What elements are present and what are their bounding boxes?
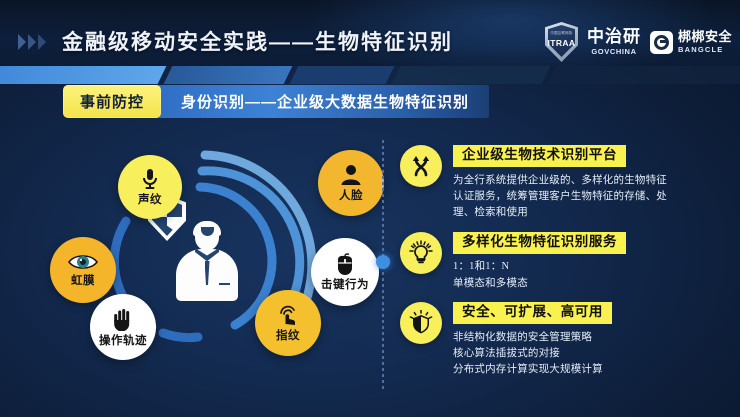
section-title: 安全、可扩展、高可用 bbox=[453, 302, 612, 324]
node-fingerprint[interactable]: 指纹 bbox=[255, 290, 321, 356]
bangcle-logo: 梆梆安全 BANGCLE bbox=[650, 30, 732, 54]
section-description: 1：1和1：N 单模态和多模态 bbox=[453, 259, 736, 292]
double-chevron-right-icon bbox=[18, 34, 64, 50]
biometrics-diagram: 声纹 人脸 虹膜 bbox=[30, 135, 380, 395]
divider-dot bbox=[376, 255, 390, 269]
govchina-logo-cn: 中治研 bbox=[587, 29, 641, 46]
mouse-icon bbox=[335, 253, 355, 275]
subtitle-tag: 事前防控 bbox=[63, 85, 161, 118]
crossing-arrows-icon bbox=[400, 145, 442, 187]
govchina-logo: 中治研 GOVCHINA bbox=[587, 29, 641, 56]
bangcle-logo-en: BANGCLE bbox=[678, 46, 732, 54]
node-voiceprint[interactable]: 声纹 bbox=[118, 155, 182, 219]
section-platform: 企业级生物技术识别平台 为全行系统提供企业级的、多样化的生物特征 认证服务，统筹… bbox=[400, 145, 736, 221]
section-description: 为全行系统提供企业级的、多样化的生物特征 认证服务，统筹管理客户生物特征的存储、… bbox=[453, 172, 736, 221]
fingerprint-touch-icon bbox=[277, 304, 299, 326]
microphone-icon bbox=[141, 168, 159, 190]
header-stripe-decoration bbox=[0, 66, 740, 84]
node-label: 操作轨迹 bbox=[99, 332, 147, 348]
section-description: 非结构化数据的安全管理策略 核心算法插拔式的对接 分布式内存计算实现大规模计算 bbox=[453, 329, 736, 378]
node-keystroke[interactable]: 击键行为 bbox=[311, 238, 379, 306]
itraa-logo-text: ITRAA bbox=[545, 38, 578, 48]
section-title: 企业级生物技术识别平台 bbox=[453, 145, 626, 167]
section-services: 多样化生物特征识别服务 1：1和1：N 单模态和多模态 bbox=[400, 232, 736, 291]
page-title: 金融级移动安全实践——生物特征识别 bbox=[62, 26, 453, 56]
logo-group: 中国互联网协会 ITRAA 中治研 GOVCHINA 梆梆安全 BANGCLE bbox=[545, 22, 732, 62]
face-person-icon bbox=[340, 164, 362, 186]
bangcle-logo-cn: 梆梆安全 bbox=[678, 30, 732, 43]
node-label: 人脸 bbox=[339, 187, 363, 203]
node-face[interactable]: 人脸 bbox=[318, 150, 384, 216]
node-label: 指纹 bbox=[276, 327, 300, 343]
eye-iris-icon bbox=[68, 253, 98, 271]
person-avatar-icon bbox=[176, 223, 238, 301]
hand-palm-icon bbox=[112, 307, 134, 331]
subtitle-bar: 事前防控 身份识别——企业级大数据生物特征识别 bbox=[63, 85, 489, 118]
section-security: 安全、可扩展、高可用 非结构化数据的安全管理策略 核心算法插拔式的对接 分布式内… bbox=[400, 302, 736, 378]
lightbulb-icon bbox=[400, 232, 442, 274]
node-iris[interactable]: 虹膜 bbox=[50, 237, 116, 303]
bangcle-mark-icon bbox=[650, 31, 673, 54]
shield-rays-icon bbox=[400, 302, 442, 344]
govchina-logo-en: GOVCHINA bbox=[591, 48, 636, 56]
node-label: 击键行为 bbox=[321, 276, 369, 292]
slide-background: 金融级移动安全实践——生物特征识别 中国互联网协会 ITRAA 中治研 GOVC… bbox=[0, 0, 740, 417]
itraa-logo-top-text: 中国互联网协会 bbox=[550, 29, 573, 37]
slide-header: 金融级移动安全实践——生物特征识别 中国互联网协会 ITRAA 中治研 GOVC… bbox=[0, 0, 740, 66]
node-label: 虹膜 bbox=[71, 272, 95, 288]
section-title: 多样化生物特征识别服务 bbox=[453, 232, 626, 254]
subtitle-text: 身份识别——企业级大数据生物特征识别 bbox=[155, 85, 489, 118]
node-operation-trace[interactable]: 操作轨迹 bbox=[90, 294, 156, 360]
node-label: 声纹 bbox=[138, 191, 162, 207]
itraa-shield-logo: 中国互联网协会 ITRAA bbox=[545, 22, 578, 62]
